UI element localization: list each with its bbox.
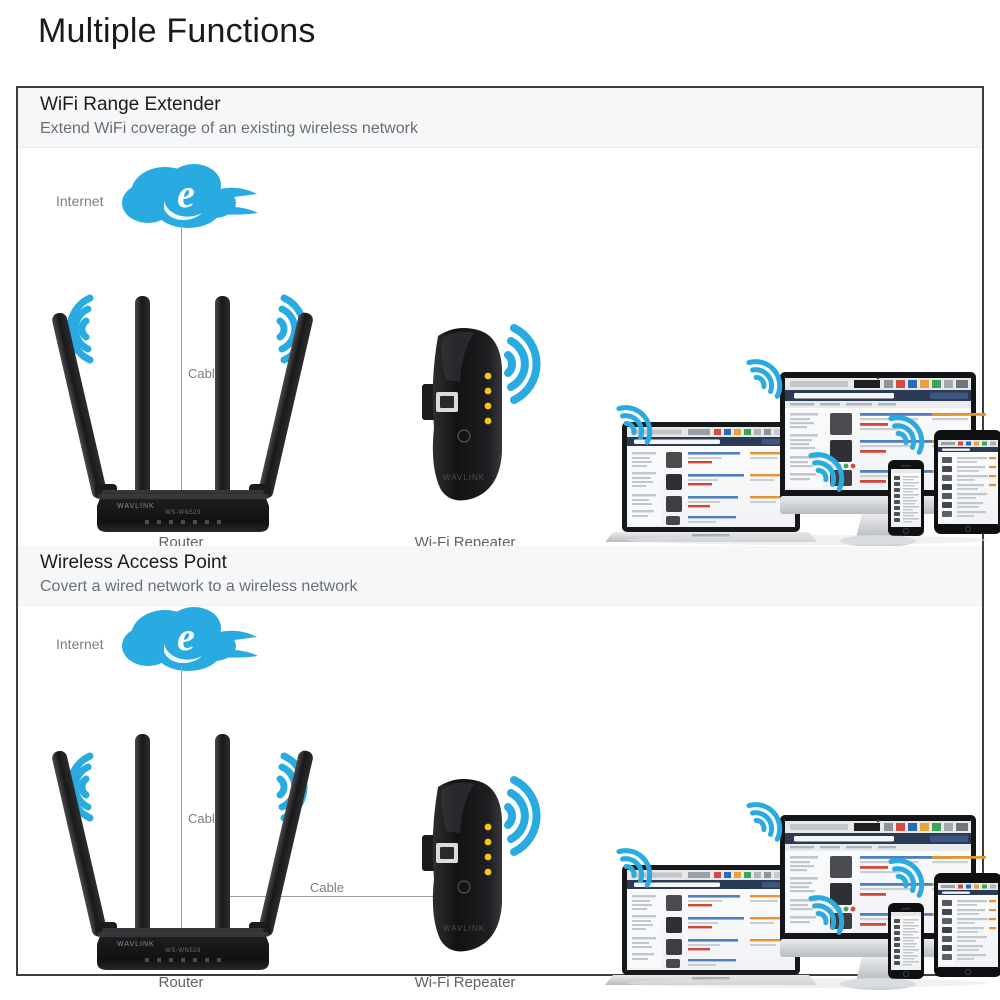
internet-explorer-cloud-icon: e bbox=[118, 606, 258, 684]
wifi-signal-icon-phone bbox=[818, 886, 852, 926]
wifi-repeater-plug-icon: WAVLINK bbox=[416, 771, 520, 961]
svg-text:WAVLINK: WAVLINK bbox=[443, 473, 485, 482]
internet-label: Internet bbox=[56, 636, 103, 652]
wifi-signal-icon-phone bbox=[818, 443, 852, 483]
wifi-signal-icon-repeater bbox=[506, 778, 556, 854]
panel-2-title: Wireless Access Point bbox=[40, 552, 227, 574]
panel-wireless-access-point: Wireless Access Point Covert a wired net… bbox=[18, 546, 982, 976]
panel-1-stage: Internet e bbox=[18, 148, 982, 546]
svg-text:WAVLINK: WAVLINK bbox=[443, 924, 485, 933]
wifi-signal-icon-laptop bbox=[626, 839, 660, 879]
svg-text:WS-WN529: WS-WN529 bbox=[165, 948, 201, 954]
wifi-signal-icon-repeater bbox=[506, 326, 556, 402]
svg-text:e: e bbox=[177, 614, 195, 659]
cable-label: Cable bbox=[306, 880, 348, 895]
wireless-router-icon: WAVLINK WS-WN529 bbox=[73, 288, 293, 548]
wifi-signal-icon-tablet bbox=[898, 849, 932, 889]
svg-text:WAVLINK: WAVLINK bbox=[117, 941, 155, 948]
wifi-signal-icon-laptop bbox=[626, 396, 660, 436]
functions-card: WiFi Range Extender Extend WiFi coverage… bbox=[16, 86, 984, 976]
panel-1-header: WiFi Range Extender Extend WiFi coverage… bbox=[18, 88, 982, 148]
repeater-caption: Wi-Fi Repeater bbox=[415, 974, 516, 991]
panel-2-stage: Internet e bbox=[18, 606, 982, 976]
internet-explorer-cloud-icon: e bbox=[118, 163, 258, 241]
panel-2-header: Wireless Access Point Covert a wired net… bbox=[18, 546, 982, 606]
wifi-signal-icon-tablet bbox=[898, 406, 932, 446]
svg-text:WAVLINK: WAVLINK bbox=[117, 503, 155, 510]
panel-2-subtitle: Covert a wired network to a wireless net… bbox=[40, 578, 357, 596]
router-caption: Router bbox=[158, 974, 203, 991]
page-title: Multiple Functions bbox=[38, 12, 316, 51]
panel-1-title: WiFi Range Extender bbox=[40, 94, 221, 116]
svg-text:WS-WN529: WS-WN529 bbox=[165, 510, 201, 516]
wifi-signal-icon-desktop bbox=[756, 793, 790, 833]
internet-label: Internet bbox=[56, 193, 103, 209]
laptop-desktop-tablet-phone-icon bbox=[612, 801, 1000, 991]
wifi-signal-icon-desktop bbox=[756, 350, 790, 390]
wireless-router-icon: WAVLINK WS-WN529 bbox=[73, 726, 293, 986]
panel-1-subtitle: Extend WiFi coverage of an existing wire… bbox=[40, 120, 418, 138]
laptop-desktop-tablet-phone-icon bbox=[612, 358, 1000, 548]
svg-text:e: e bbox=[177, 171, 195, 216]
wifi-repeater-plug-icon: WAVLINK bbox=[416, 320, 520, 510]
panel-wifi-range-extender: WiFi Range Extender Extend WiFi coverage… bbox=[18, 88, 982, 546]
